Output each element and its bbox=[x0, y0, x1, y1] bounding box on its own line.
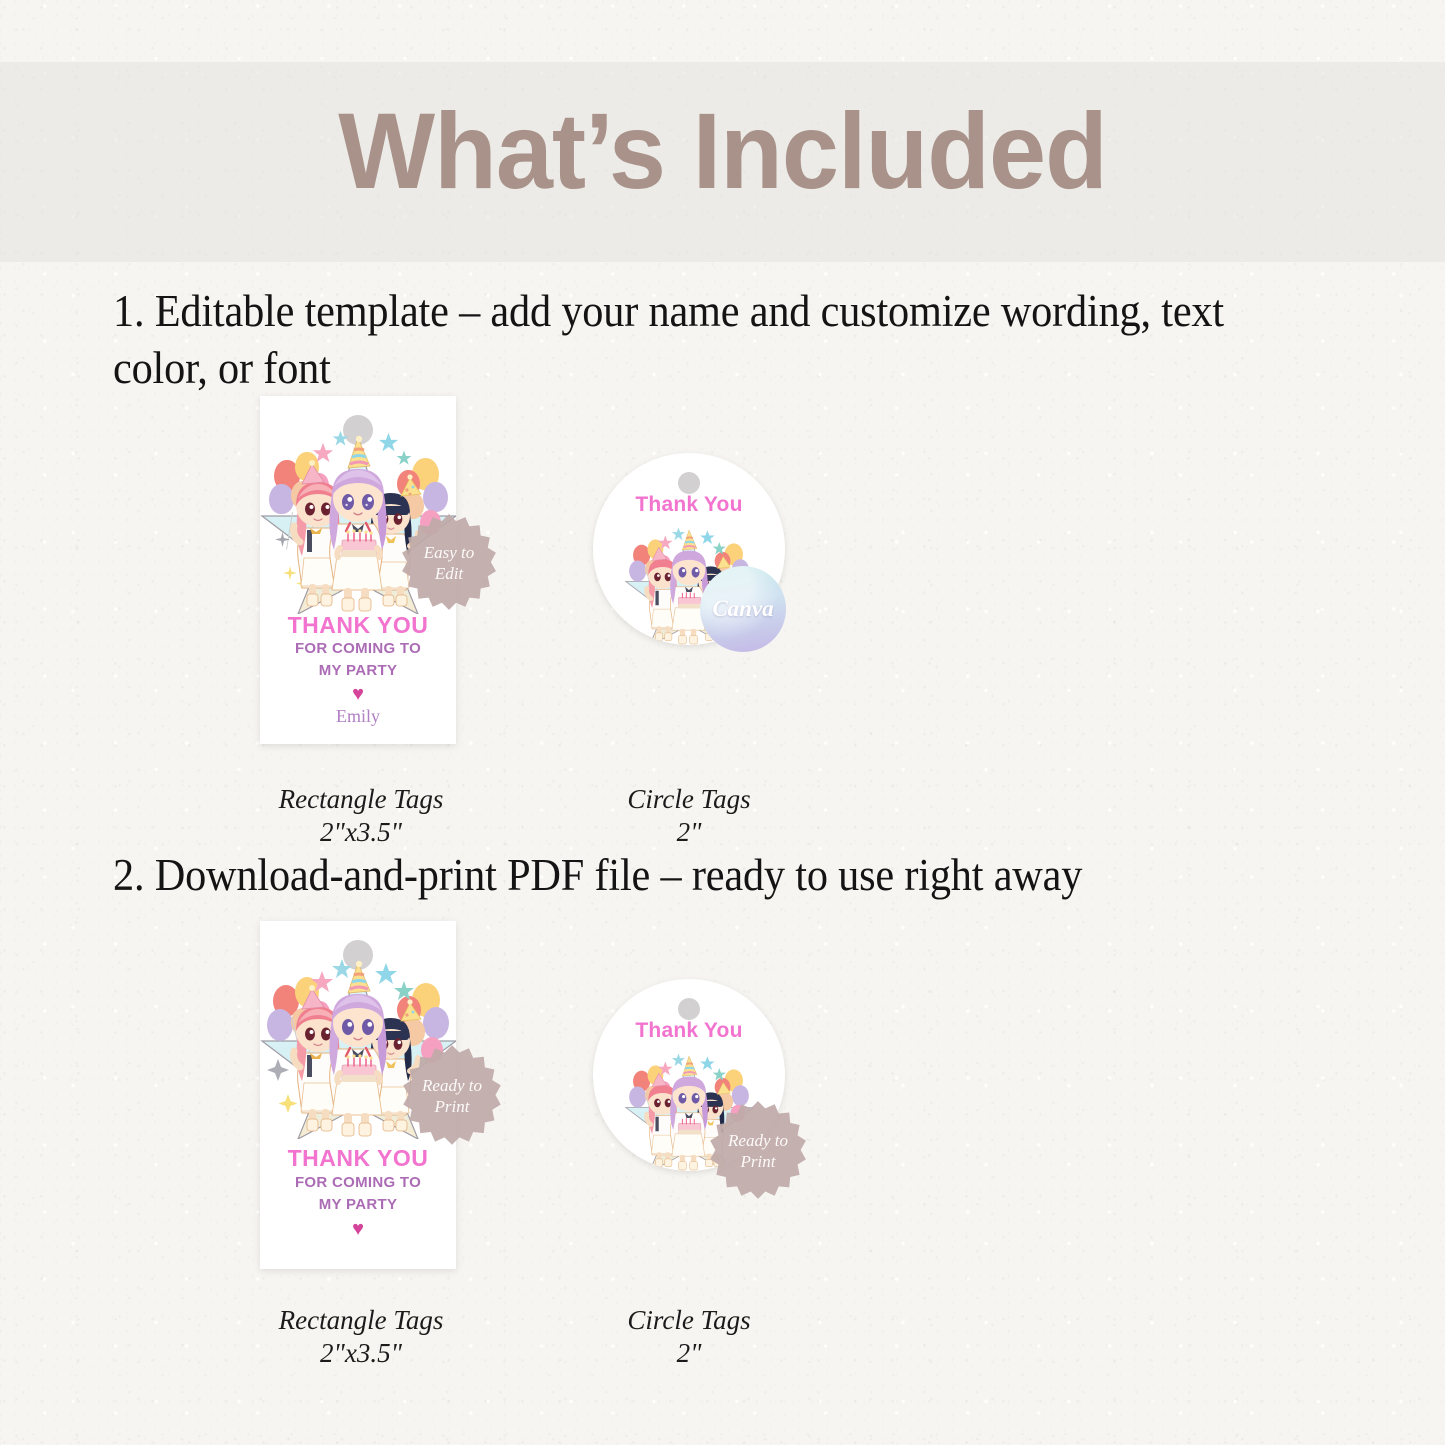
tag-line-2: FOR COMING TO bbox=[260, 640, 456, 657]
tag-line-3: MY PARTY bbox=[260, 1196, 456, 1213]
step-1-heading: 1. Editable template – add your name and… bbox=[113, 283, 1326, 396]
circle-tag-caption-2: Circle Tags 2" bbox=[549, 1304, 829, 1370]
caption-title: Rectangle Tags bbox=[279, 1305, 444, 1335]
rectangle-tag-caption-2: Rectangle Tags 2"x3.5" bbox=[221, 1304, 501, 1370]
canva-label: Canva bbox=[712, 596, 773, 622]
page-title: What’s Included bbox=[36, 93, 1409, 210]
caption-title: Circle Tags bbox=[627, 784, 750, 814]
tag-headline: THANK YOU bbox=[260, 612, 456, 639]
caption-size: 2"x3.5" bbox=[221, 1337, 501, 1370]
tag-headline: Thank You bbox=[593, 1019, 785, 1043]
ready-to-print-badge-circle: Ready to Print bbox=[706, 1099, 810, 1203]
tag-headline: Thank You bbox=[593, 493, 785, 517]
caption-size: 2"x3.5" bbox=[221, 816, 501, 849]
step-2-heading: 2. Download-and-print PDF file – ready t… bbox=[113, 847, 1326, 904]
heart-icon: ♥ bbox=[260, 684, 456, 704]
badge-label: Ready to Print bbox=[422, 1075, 482, 1118]
tag-headline: THANK YOU bbox=[260, 1145, 456, 1172]
caption-title: Rectangle Tags bbox=[279, 784, 444, 814]
caption-size: 2" bbox=[549, 816, 829, 849]
badge-label: Easy to Edit bbox=[424, 542, 475, 585]
tag-custom-name: Emily bbox=[260, 706, 456, 727]
badge-label: Ready to Print bbox=[728, 1130, 788, 1173]
tag-hole-icon bbox=[678, 472, 700, 494]
circle-tag-caption-1: Circle Tags 2" bbox=[549, 783, 829, 849]
easy-to-edit-badge: Easy to Edit bbox=[398, 512, 500, 614]
tag-line-3: MY PARTY bbox=[260, 662, 456, 679]
canva-watermark-badge: Canva bbox=[700, 566, 786, 652]
heart-icon: ♥ bbox=[260, 1219, 456, 1239]
tag-line-2: FOR COMING TO bbox=[260, 1174, 456, 1191]
tag-hole-icon bbox=[678, 998, 700, 1020]
rectangle-tag-caption-1: Rectangle Tags 2"x3.5" bbox=[221, 783, 501, 849]
ready-to-print-badge-rect: Ready to Print bbox=[399, 1043, 505, 1149]
caption-size: 2" bbox=[549, 1337, 829, 1370]
caption-title: Circle Tags bbox=[627, 1305, 750, 1335]
